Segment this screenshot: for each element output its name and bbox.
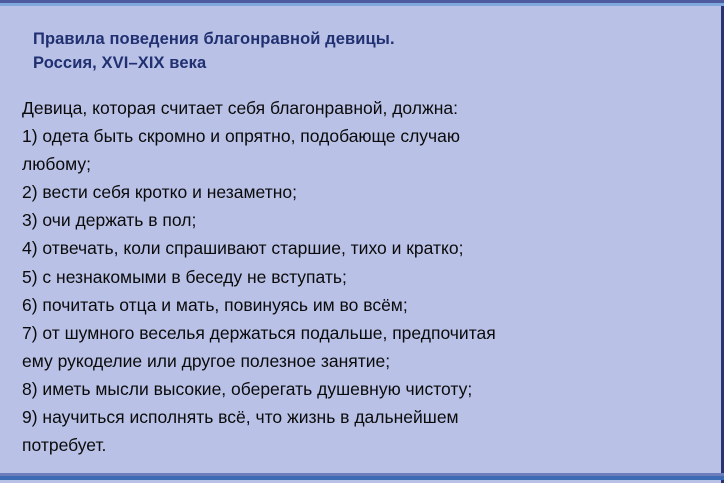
body-intro-line: Девица, которая считает себя благонравно…	[22, 94, 682, 122]
body-line: 7) от шумного веселья держаться подальше…	[22, 319, 682, 347]
top-border-rule-inner	[0, 3, 724, 6]
body-line: 1) одета быть скромно и опрятно, подобаю…	[22, 122, 682, 150]
bottom-border-rule-outer	[0, 476, 724, 480]
body-line: 4) отвечать, коли спрашивают старшие, ти…	[22, 234, 682, 262]
slide-title-line-2: Россия, XVI–XIX века	[33, 51, 693, 75]
body-line: любому;	[22, 150, 682, 178]
body-line: ему рукоделие или другое полезное заняти…	[22, 347, 682, 375]
slide-canvas: Правила поведения благонравной девицы. Р…	[0, 0, 724, 483]
slide-body-text: Девица, которая считает себя благонравно…	[22, 94, 682, 459]
slide-title-line-1: Правила поведения благонравной девицы.	[33, 27, 693, 51]
body-line: 6) почитать отца и мать, повинуясь им во…	[22, 291, 682, 319]
body-line: 2) вести себя кротко и незаметно;	[22, 178, 682, 206]
body-line: 3) очи держать в пол;	[22, 206, 682, 234]
body-line: потребует.	[22, 431, 682, 459]
body-line: 5) с незнакомыми в беседу не вступать;	[22, 263, 682, 291]
body-line: 9) научиться исполнять всё, что жизнь в …	[22, 403, 682, 431]
body-line: 8) иметь мысли высокие, оберегать душевн…	[22, 375, 682, 403]
slide-title: Правила поведения благонравной девицы. Р…	[33, 27, 693, 75]
